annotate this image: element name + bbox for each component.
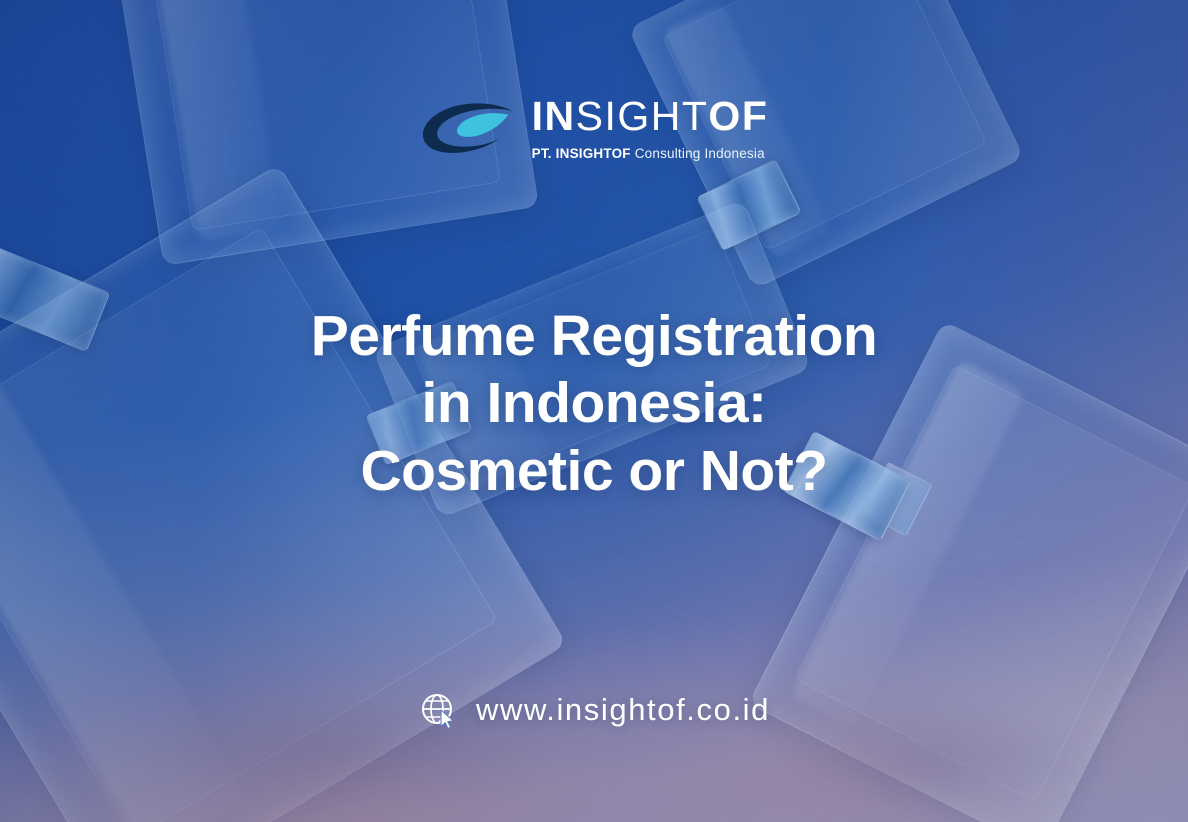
globe-cursor-icon [418,690,458,730]
website-url[interactable]: www.insightof.co.id [476,692,770,728]
tagline-descriptor: Consulting Indonesia [635,146,765,161]
footer-website: www.insightof.co.id [0,690,1188,730]
wordmark-of: OF [708,93,768,139]
title-line-3: Cosmetic or Not? [311,438,877,505]
title-line-1: Perfume Registration [311,303,877,370]
wordmark-sight: SIGHT [576,93,709,139]
poster-canvas: INSIGHTOF PT. INSIGHTOF Consulting Indon… [0,0,1188,822]
insightof-eye-logo-icon [420,101,516,157]
brand-tagline: PT. INSIGHTOF Consulting Indonesia [532,146,765,161]
title-line-2: in Indonesia: [311,370,877,437]
brand-logo: INSIGHTOF PT. INSIGHTOF Consulting Indon… [420,96,769,161]
wordmark-in: IN [532,93,576,139]
page-title: Perfume Registration in Indonesia: Cosme… [311,303,877,505]
brand-wordmark: INSIGHTOF [532,96,769,137]
tagline-company: PT. INSIGHTOF [532,146,631,161]
